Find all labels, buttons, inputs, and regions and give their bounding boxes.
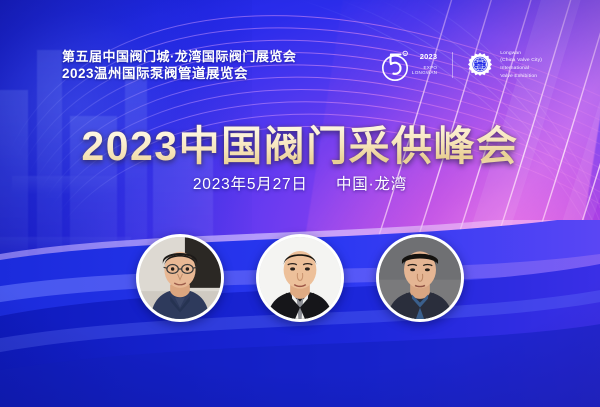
speaker-portrait-1 bbox=[136, 234, 224, 322]
gear-emblem-label: VALVE bbox=[477, 63, 484, 66]
event-location: 中国·龙湾 bbox=[336, 176, 407, 193]
longwan-valve-logo: VALVE Longwan (China Valve City) Interna… bbox=[467, 50, 542, 80]
longwan-text-line-2: (China Valve City) bbox=[500, 57, 542, 65]
logo-group: th 2023 EXPO LONGWAN bbox=[380, 46, 542, 84]
cvce-expo-logo: th 2023 EXPO LONGWAN bbox=[380, 46, 438, 84]
event-date: 2023年5月27日 bbox=[193, 176, 308, 193]
speaker-portrait-3 bbox=[376, 234, 464, 322]
logo-divider bbox=[452, 52, 453, 78]
poster-header: 第五届中国阀门城·龙湾国际阀门展览会 2023温州国际泵阀管道展览会 th 20… bbox=[0, 42, 600, 88]
poster-main-title: 2023中国阀门采供峰会 bbox=[0, 112, 600, 172]
longwan-text-line-4: Valve Exhibition bbox=[500, 73, 542, 81]
event-title-block: 第五届中国阀门城·龙湾国际阀门展览会 2023温州国际泵阀管道展览会 bbox=[62, 48, 296, 83]
longwan-text-line-3: International bbox=[500, 65, 542, 73]
longwan-logo-text: Longwan (China Valve City) International… bbox=[500, 50, 542, 80]
gear-emblem-icon: VALVE bbox=[467, 52, 493, 78]
cvce-year-label: 2023 bbox=[420, 53, 438, 61]
poster-subtitle: 2023年5月27日 中国·龙湾 bbox=[0, 172, 600, 194]
main-title-text: 2023中国阀门采供峰会 bbox=[81, 112, 518, 172]
cvce-expo-label: EXPO LONGWAN bbox=[412, 65, 437, 75]
conference-poster: 第五届中国阀门城·龙湾国际阀门展览会 2023温州国际泵阀管道展览会 th 20… bbox=[0, 0, 600, 407]
speaker-portrait-2 bbox=[256, 234, 344, 322]
event-title-line-1: 第五届中国阀门城·龙湾国际阀门展览会 bbox=[62, 48, 296, 65]
event-title-line-2: 2023温州国际泵阀管道展览会 bbox=[62, 65, 296, 83]
longwan-text-line-1: Longwan bbox=[500, 50, 542, 58]
speaker-portrait-row bbox=[0, 234, 600, 322]
